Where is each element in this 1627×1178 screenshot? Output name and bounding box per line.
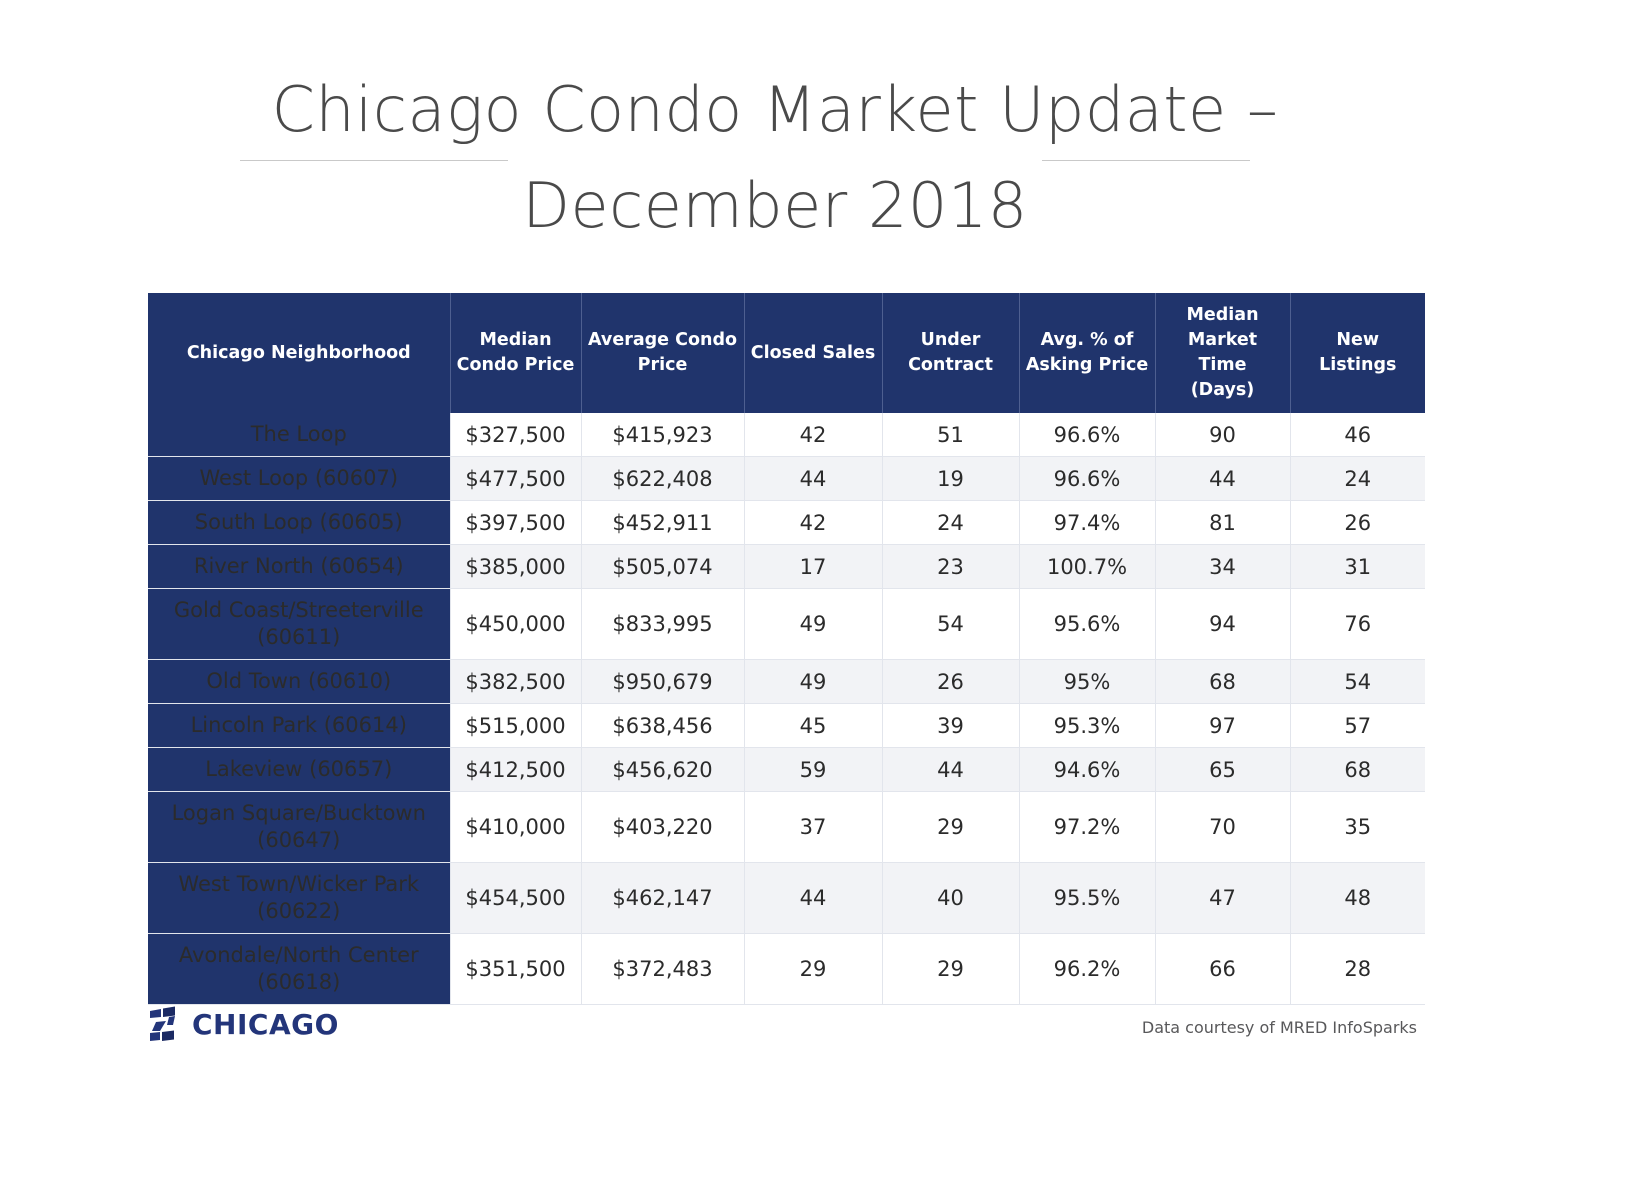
- cell-neighborhood: Lakeview (60657): [148, 748, 450, 792]
- cell-under-contract: 40: [882, 863, 1019, 934]
- cell-average-condo-price: $403,220: [581, 792, 744, 863]
- cell-neighborhood: Lincoln Park (60614): [148, 704, 450, 748]
- cell-average-condo-price: $462,147: [581, 863, 744, 934]
- cell-closed-sales: 59: [744, 748, 882, 792]
- cell-new-listings: 46: [1290, 413, 1425, 457]
- cell-average-condo-price: $505,074: [581, 545, 744, 589]
- table-row: Gold Coast/Streeterville(60611)$450,000$…: [148, 589, 1425, 660]
- cell-avg-pct-asking-price: 95.5%: [1019, 863, 1155, 934]
- cell-neighborhood: The Loop: [148, 413, 450, 457]
- cell-neighborhood: West Loop (60607): [148, 457, 450, 501]
- column-header-neighborhood: Chicago Neighborhood: [148, 293, 450, 413]
- header-line: Contract: [889, 353, 1013, 378]
- cell-new-listings: 24: [1290, 457, 1425, 501]
- cell-neighborhood: South Loop (60605): [148, 501, 450, 545]
- cell-average-condo-price: $456,620: [581, 748, 744, 792]
- cell-new-listings: 26: [1290, 501, 1425, 545]
- header-line: Price: [588, 353, 738, 378]
- cell-median-condo-price: $351,500: [450, 934, 581, 1005]
- header-line: Market Time: [1162, 328, 1284, 378]
- cell-under-contract: 44: [882, 748, 1019, 792]
- cell-new-listings: 35: [1290, 792, 1425, 863]
- cell-new-listings: 31: [1290, 545, 1425, 589]
- cell-neighborhood: West Town/Wicker Park(60622): [148, 863, 450, 934]
- cell-closed-sales: 49: [744, 660, 882, 704]
- column-header-under-contract: Under Contract: [882, 293, 1019, 413]
- header-line: (Days): [1162, 378, 1284, 403]
- cell-avg-pct-asking-price: 95%: [1019, 660, 1155, 704]
- cell-under-contract: 29: [882, 934, 1019, 1005]
- neighborhood-line: The Loop: [152, 421, 446, 448]
- cell-median-market-time: 65: [1155, 748, 1290, 792]
- cell-neighborhood: Logan Square/Bucktown(60647): [148, 792, 450, 863]
- cell-new-listings: 28: [1290, 934, 1425, 1005]
- column-header-closed-sales: Closed Sales: [744, 293, 882, 413]
- header-line: Under: [889, 328, 1013, 353]
- cell-new-listings: 76: [1290, 589, 1425, 660]
- cell-median-market-time: 47: [1155, 863, 1290, 934]
- table-row: South Loop (60605)$397,500$452,911422497…: [148, 501, 1425, 545]
- column-header-median-market-time: Median Market Time (Days): [1155, 293, 1290, 413]
- neighborhood-line: (60611): [152, 624, 446, 651]
- table-row: West Loop (60607)$477,500$622,408441996.…: [148, 457, 1425, 501]
- neighborhood-line: Logan Square/Bucktown: [152, 800, 446, 827]
- cell-neighborhood: River North (60654): [148, 545, 450, 589]
- market-table-body: The Loop$327,500$415,923425196.6%9046Wes…: [148, 413, 1425, 1005]
- table-row: Avondale/North Center(60618)$351,500$372…: [148, 934, 1425, 1005]
- cell-under-contract: 54: [882, 589, 1019, 660]
- cell-under-contract: 24: [882, 501, 1019, 545]
- cell-avg-pct-asking-price: 94.6%: [1019, 748, 1155, 792]
- neighborhood-line: West Loop (60607): [152, 465, 446, 492]
- cell-avg-pct-asking-price: 95.6%: [1019, 589, 1155, 660]
- cell-average-condo-price: $638,456: [581, 704, 744, 748]
- cell-neighborhood: Gold Coast/Streeterville(60611): [148, 589, 450, 660]
- header-line: Condo Price: [457, 353, 575, 378]
- cell-median-market-time: 34: [1155, 545, 1290, 589]
- header-line: Closed Sales: [751, 341, 876, 366]
- cell-median-condo-price: $454,500: [450, 863, 581, 934]
- cell-avg-pct-asking-price: 100.7%: [1019, 545, 1155, 589]
- title-line-2: December 2018: [508, 158, 1042, 254]
- cell-median-market-time: 90: [1155, 413, 1290, 457]
- cell-closed-sales: 42: [744, 501, 882, 545]
- cell-median-market-time: 68: [1155, 660, 1290, 704]
- neighborhood-line: River North (60654): [152, 553, 446, 580]
- table-row: The Loop$327,500$415,923425196.6%9046: [148, 413, 1425, 457]
- market-table: Chicago Neighborhood Median Condo Price …: [148, 293, 1425, 1005]
- neighborhood-line: (60647): [152, 827, 446, 854]
- cell-neighborhood: Old Town (60610): [148, 660, 450, 704]
- cell-closed-sales: 45: [744, 704, 882, 748]
- cell-new-listings: 57: [1290, 704, 1425, 748]
- cell-closed-sales: 37: [744, 792, 882, 863]
- header-line: Asking Price: [1026, 353, 1149, 378]
- neighborhood-line: Gold Coast/Streeterville: [152, 597, 446, 624]
- cell-average-condo-price: $622,408: [581, 457, 744, 501]
- table-row: Lakeview (60657)$412,500$456,620594494.6…: [148, 748, 1425, 792]
- column-header-new-listings: New Listings: [1290, 293, 1425, 413]
- cell-median-condo-price: $327,500: [450, 413, 581, 457]
- cell-median-condo-price: $477,500: [450, 457, 581, 501]
- cell-closed-sales: 42: [744, 413, 882, 457]
- cell-new-listings: 48: [1290, 863, 1425, 934]
- cell-average-condo-price: $833,995: [581, 589, 744, 660]
- cell-median-market-time: 94: [1155, 589, 1290, 660]
- cell-median-condo-price: $397,500: [450, 501, 581, 545]
- slide: Chicago Condo Market Update – December 2…: [0, 0, 1627, 1178]
- cell-median-condo-price: $385,000: [450, 545, 581, 589]
- column-header-average-condo-price: Average Condo Price: [581, 293, 744, 413]
- neighborhood-line: Lakeview (60657): [152, 756, 446, 783]
- cell-neighborhood: Avondale/North Center(60618): [148, 934, 450, 1005]
- chicago-logo: CHICAGO: [148, 1006, 339, 1044]
- cell-avg-pct-asking-price: 95.3%: [1019, 704, 1155, 748]
- cell-under-contract: 26: [882, 660, 1019, 704]
- cell-avg-pct-asking-price: 96.6%: [1019, 413, 1155, 457]
- cell-median-market-time: 66: [1155, 934, 1290, 1005]
- cell-average-condo-price: $372,483: [581, 934, 744, 1005]
- cell-under-contract: 23: [882, 545, 1019, 589]
- page-title: Chicago Condo Market Update – December 2…: [240, 62, 1310, 254]
- neighborhood-line: Avondale/North Center: [152, 942, 446, 969]
- cell-median-market-time: 81: [1155, 501, 1290, 545]
- neighborhood-line: (60618): [152, 969, 446, 996]
- cell-avg-pct-asking-price: 97.4%: [1019, 501, 1155, 545]
- cell-average-condo-price: $452,911: [581, 501, 744, 545]
- cell-under-contract: 39: [882, 704, 1019, 748]
- cell-median-condo-price: $382,500: [450, 660, 581, 704]
- neighborhood-line: Lincoln Park (60614): [152, 712, 446, 739]
- table-row: Old Town (60610)$382,500$950,679492695%6…: [148, 660, 1425, 704]
- neighborhood-line: South Loop (60605): [152, 509, 446, 536]
- cell-avg-pct-asking-price: 96.6%: [1019, 457, 1155, 501]
- cell-closed-sales: 44: [744, 457, 882, 501]
- column-header-avg-pct-asking-price: Avg. % of Asking Price: [1019, 293, 1155, 413]
- cell-median-market-time: 97: [1155, 704, 1290, 748]
- cell-closed-sales: 29: [744, 934, 882, 1005]
- cell-median-condo-price: $410,000: [450, 792, 581, 863]
- chicago-blocks-logo-icon: [148, 1006, 182, 1044]
- cell-average-condo-price: $950,679: [581, 660, 744, 704]
- header-line: Median: [457, 328, 575, 353]
- neighborhood-line: West Town/Wicker Park: [152, 871, 446, 898]
- neighborhood-line: Old Town (60610): [152, 668, 446, 695]
- table-row: Lincoln Park (60614)$515,000$638,4564539…: [148, 704, 1425, 748]
- header-line: Chicago Neighborhood: [154, 341, 444, 366]
- footer: CHICAGO Data courtesy of MRED InfoSparks: [148, 1006, 1425, 1050]
- header-line: Avg. % of: [1026, 328, 1149, 353]
- cell-avg-pct-asking-price: 96.2%: [1019, 934, 1155, 1005]
- cell-median-condo-price: $515,000: [450, 704, 581, 748]
- cell-under-contract: 29: [882, 792, 1019, 863]
- logo-wordmark: CHICAGO: [192, 1006, 339, 1044]
- neighborhood-line: (60622): [152, 898, 446, 925]
- cell-median-condo-price: $450,000: [450, 589, 581, 660]
- cell-closed-sales: 17: [744, 545, 882, 589]
- cell-new-listings: 54: [1290, 660, 1425, 704]
- cell-new-listings: 68: [1290, 748, 1425, 792]
- data-courtesy-note: Data courtesy of MRED InfoSparks: [1142, 1018, 1417, 1037]
- market-table-container: Chicago Neighborhood Median Condo Price …: [148, 293, 1425, 1005]
- cell-average-condo-price: $415,923: [581, 413, 744, 457]
- header-line: Median: [1162, 303, 1284, 328]
- cell-closed-sales: 49: [744, 589, 882, 660]
- cell-avg-pct-asking-price: 97.2%: [1019, 792, 1155, 863]
- header-line: New Listings: [1297, 328, 1420, 378]
- header-line: Average Condo: [588, 328, 738, 353]
- title-line-1: Chicago Condo Market Update –: [258, 62, 1293, 158]
- cell-under-contract: 19: [882, 457, 1019, 501]
- cell-under-contract: 51: [882, 413, 1019, 457]
- column-header-median-condo-price: Median Condo Price: [450, 293, 581, 413]
- cell-closed-sales: 44: [744, 863, 882, 934]
- table-row: River North (60654)$385,000$505,07417231…: [148, 545, 1425, 589]
- cell-median-condo-price: $412,500: [450, 748, 581, 792]
- table-row: West Town/Wicker Park(60622)$454,500$462…: [148, 863, 1425, 934]
- cell-median-market-time: 44: [1155, 457, 1290, 501]
- table-header-row: Chicago Neighborhood Median Condo Price …: [148, 293, 1425, 413]
- cell-median-market-time: 70: [1155, 792, 1290, 863]
- table-row: Logan Square/Bucktown(60647)$410,000$403…: [148, 792, 1425, 863]
